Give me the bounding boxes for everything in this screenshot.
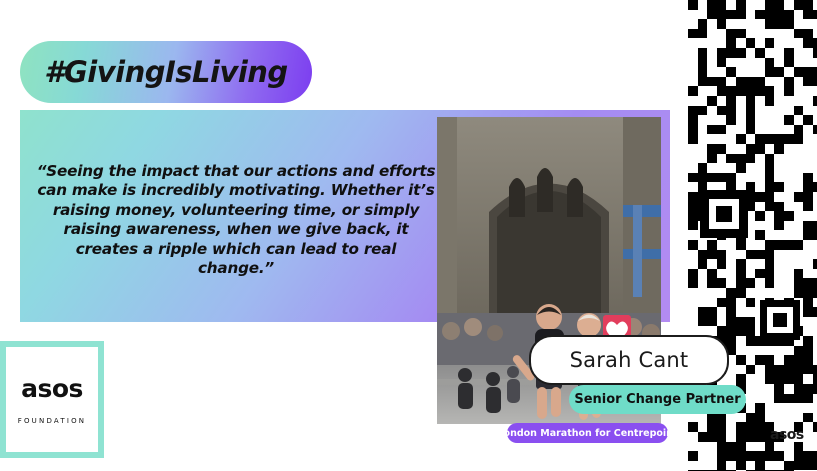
asos-brand-mark: asos <box>770 427 804 443</box>
person-name-label: Sarah Cant <box>570 348 689 372</box>
person-role-label: Senior Change Partner <box>574 392 740 407</box>
event-caption-label: London Marathon for Centrepoint <box>498 428 678 439</box>
hashtag-badge: #GivingIsLiving <box>20 41 312 103</box>
asos-foundation-logo: asos FOUNDATION <box>0 341 104 458</box>
hashtag-label: #GivingIsLiving <box>44 55 287 89</box>
slide-canvas: #GivingIsLiving “Seeing the impact that … <box>0 0 817 471</box>
person-role-badge: Senior Change Partner <box>569 385 746 414</box>
person-name-badge: Sarah Cant <box>529 335 729 385</box>
logo-inner: asos FOUNDATION <box>6 347 98 452</box>
logo-wordmark: asos <box>21 374 83 403</box>
quote-text: “Seeing the impact that our actions and … <box>36 162 436 279</box>
event-caption-badge: London Marathon for Centrepoint <box>507 423 668 443</box>
logo-subtitle: FOUNDATION <box>18 417 87 425</box>
